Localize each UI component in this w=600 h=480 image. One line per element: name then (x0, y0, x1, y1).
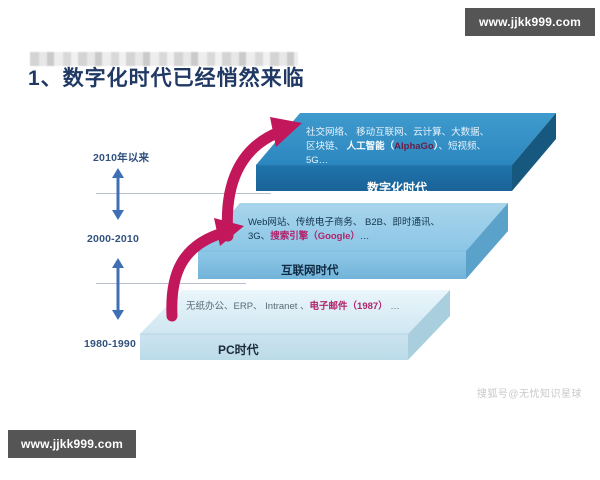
timeline-label-2000-2010: 2000-2010 (87, 233, 139, 245)
range-arrow-lower (111, 258, 125, 320)
watermark-sohu-text: 搜狐号@无忧知识星球 (477, 385, 582, 400)
tier-era-digital: 数字化时代 (367, 179, 427, 196)
tier-era-internet: 互联网时代 (281, 262, 339, 278)
watermark-top-badge: www.jjkk999.com (465, 8, 595, 36)
watermark-top-text: www.jjkk999.com (479, 15, 581, 29)
slide-canvas: www.jjkk999.com www.jjkk999.com 搜狐号@无忧知识… (0, 0, 600, 480)
page-title: 1、数字化时代已经悄然来临 (28, 62, 305, 92)
watermark-bottom-badge: www.jjkk999.com (8, 430, 136, 458)
timeline-label-since-2010: 2010年以来 (93, 150, 149, 165)
growth-arrow-upper (222, 113, 312, 238)
timeline-label-1980-1990: 1980-1990 (84, 338, 136, 350)
range-arrow-upper (111, 168, 125, 220)
watermark-bottom-text: www.jjkk999.com (21, 437, 123, 451)
tier-era-pc: PC时代 (218, 341, 259, 358)
